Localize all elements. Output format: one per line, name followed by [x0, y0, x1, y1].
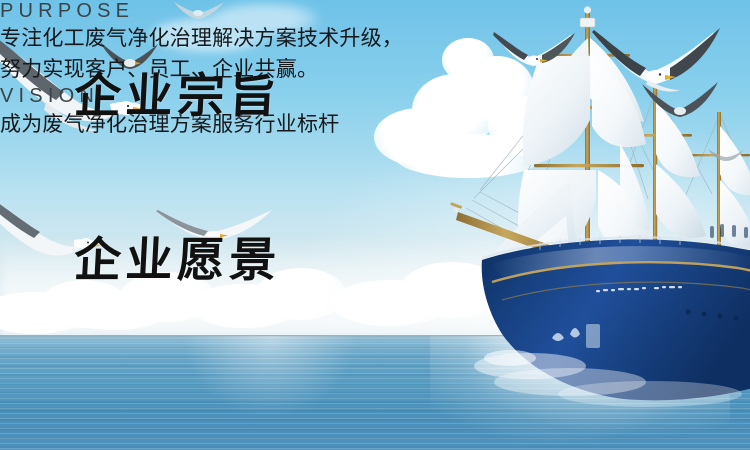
- purpose-heading-en: PURPOSE: [0, 0, 750, 23]
- corporate-purpose-vision-banner: 企业宗旨 PURPOSE 专注化工废气净化治理解决方案技术升级， 努力实现客户、…: [0, 0, 750, 450]
- text-overlay: 企业宗旨 PURPOSE 专注化工废气净化治理解决方案技术升级， 努力实现客户、…: [0, 0, 750, 450]
- vision-heading-cn: 企业愿景: [73, 236, 282, 286]
- purpose-heading-cn: 企业宗旨: [73, 72, 282, 122]
- purpose-body-line-1: 专注化工废气净化治理解决方案技术升级，: [0, 23, 750, 54]
